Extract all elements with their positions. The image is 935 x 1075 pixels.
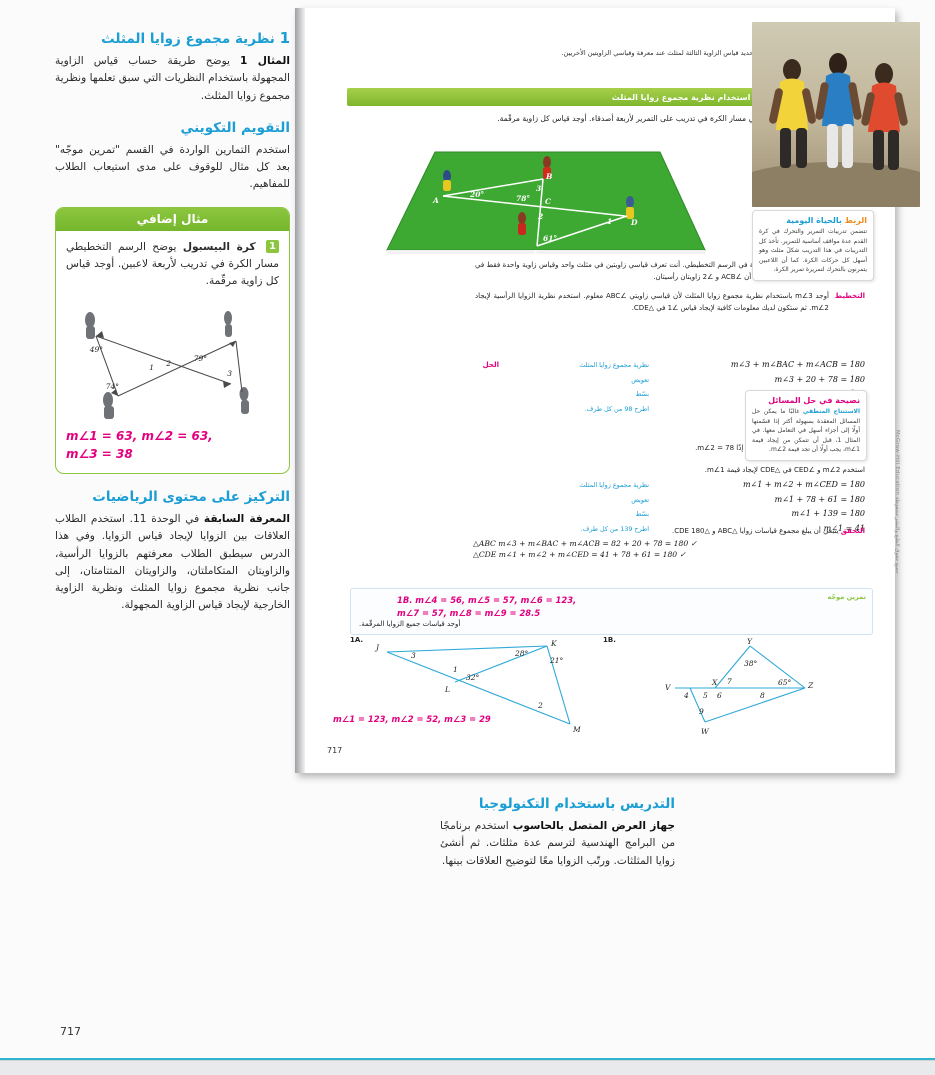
label-1: 1	[607, 217, 612, 226]
focus-lead: المعرفة السابقة	[204, 513, 290, 525]
fig-b-num-7: 7	[727, 677, 732, 686]
solution-row: بسّط m∠1 + 139 = 180	[473, 509, 865, 518]
fig-a-angle-28: 28°	[514, 649, 529, 658]
work-text: أوجد m∠3 باستخدام نظرية مجموع زوايا المث…	[475, 291, 829, 315]
point-C: C	[545, 197, 551, 206]
fig-a-label: 1A.	[350, 636, 363, 644]
label-3: 3	[536, 184, 541, 193]
solution-row: نظرية مجموع زوايا المثلث m∠1 + m∠2 + m∠C…	[473, 480, 865, 489]
tip-body: الاستنتاج المنطقي غالبًا ما يمكن حل المس…	[752, 407, 860, 455]
section-number: 1	[280, 29, 290, 47]
fig-a-point-M: M	[572, 725, 581, 734]
work-tag: التخطيط	[835, 291, 865, 315]
fig-a-num-3: 3	[411, 651, 416, 660]
guided-figures: J K L M 28° 21° 32° 3 1 2	[335, 636, 877, 748]
guided-figures-svg: J K L M 28° 21° 32° 3 1 2	[335, 636, 880, 748]
guided-practice-box: تمرين موجّه 1B. m∠4 = 56, m∠5 = 57, m∠6 …	[350, 588, 873, 635]
solution-equation: m∠1 + 139 = 180	[653, 509, 865, 518]
teacher-left-column: 1 نظرية مجموع زوايا المثلث المثال 1 يوضح…	[55, 28, 290, 628]
real-life-title-a: الربط	[845, 216, 867, 225]
fig-b-num-6: 6	[717, 691, 722, 700]
fig-b-point-X: X	[711, 678, 718, 687]
extra-example-text: 1 كرة البيسبول يوضح الرسم التخطيطي مسار …	[66, 239, 279, 290]
soccer-photo-svg	[752, 22, 920, 207]
fig-b-point-V: V	[665, 683, 672, 692]
scan-folio: 717	[327, 746, 342, 755]
fig-b-num-5: 5	[703, 691, 708, 700]
point-A: A	[432, 196, 439, 205]
guided-practice-tag: تمرين موجّه	[827, 593, 866, 601]
page-root: 1 نظرية مجموع زوايا المثلث المثال 1 يوضح…	[0, 0, 935, 1075]
angle-74: 74°	[106, 382, 120, 391]
bottom-rule	[0, 1060, 935, 1075]
section-heading: 1 نظرية مجموع زوايا المثلث	[55, 28, 290, 48]
focus-body: المعرفة السابقة في الوحدة 11. استخدم الط…	[55, 511, 290, 614]
fig-b-num-9: 9	[699, 707, 704, 716]
copyright-credit: McGraw-Hill Education جميع حقوق الطبع وا…	[894, 430, 900, 630]
guided-practice-answer: 1B. m∠4 = 56, m∠5 = 57, m∠6 = 123, m∠7 =…	[359, 594, 864, 619]
solution-row: تعويض m∠3 + 20 + 78 = 180	[473, 375, 865, 384]
fig-a-num-1: 1	[453, 665, 458, 674]
fig-a-angle-21: 21°	[549, 656, 564, 665]
work-row: التخطيط أوجد m∠3 باستخدام نظرية مجموع زو…	[475, 291, 865, 315]
focus-heading: التركيز على محتوى الرياضيات	[55, 488, 290, 506]
fig-a-num-2: 2	[537, 701, 543, 710]
page-number: 717	[60, 1025, 81, 1038]
focus-text: في الوحدة 11. استخدم الطلاب العلاقات بين…	[55, 513, 290, 611]
fig-b-point-Y: Y	[747, 637, 753, 646]
point-E: E	[532, 249, 539, 258]
baseball-diagram-svg: 49° 79° 74° 1 2 3	[66, 296, 271, 422]
fig-a-angle-32: 32°	[466, 673, 480, 682]
book-spine	[295, 8, 305, 773]
solution-note-2: استخدم m∠2 و ∠CED في △CDE لإيجاد قيمة m∠…	[473, 465, 865, 477]
solution-reason: تعويض	[499, 376, 653, 384]
fig-b-num-4: 4	[683, 691, 689, 700]
angle-78: 78°	[516, 194, 530, 203]
extra-example-header: مثال إضافي	[56, 208, 289, 231]
verify-text: ينبغي أن يبلغ مجموع قياسات زوايا △ABC و …	[672, 527, 839, 535]
fig-b-label: 1B.	[603, 636, 616, 644]
technology-section: التدريس باستخدام التكنولوجيا جهاز العرض …	[440, 795, 675, 870]
teacher-section-theorem: 1 نظرية مجموع زوايا المثلث المثال 1 يوضح…	[55, 28, 290, 105]
technology-body: جهاز العرض المتصل بالحاسوب استخدم برنامج…	[440, 818, 675, 869]
label-2: 2	[537, 212, 543, 221]
solution-row: الحل نظرية مجموع زوايا المثلث m∠3 + m∠BA…	[473, 360, 865, 369]
fig-a-point-K: K	[550, 639, 557, 648]
solution-reason: نظرية مجموع زوايا المثلث	[499, 481, 653, 489]
verify-tag: التحقق	[841, 527, 865, 535]
tip-title: نصيحة في حل المسائل	[752, 396, 860, 405]
solution-row: تعويض m∠1 + 78 + 61 = 180	[473, 495, 865, 504]
guided-practice-prompt: أوجد قياسات جميع الزوايا المرقّمة.	[359, 620, 864, 628]
fig-b-angle-38: 38°	[744, 659, 758, 668]
baseball-diagram: 49° 79° 74° 1 2 3	[66, 296, 279, 422]
problem-solving-tip-card: نصيحة في حل المسائل الاستنتاج المنطقي غا…	[745, 390, 867, 461]
extra-example-number: 1	[266, 240, 279, 253]
point-D: D	[630, 218, 638, 227]
solution-reason: بسّط	[499, 390, 653, 398]
soccer-field-svg: A B C D E 20° 78° 61° 3 2 1	[375, 146, 715, 258]
extra-example-box: مثال إضافي 1 كرة البيسبول يوضح الرسم الت…	[55, 207, 290, 474]
section-title: التقويم التكويني	[180, 120, 290, 136]
example-title: استخدام نظرية مجموع زوايا المثلث	[612, 93, 751, 102]
guided-final-answer: m∠1 = 123, m∠2 = 52, m∠3 = 29	[333, 714, 491, 724]
section-text: استخدم التمارين الواردة في القسم "تمرين …	[55, 142, 290, 193]
verify-line: التحقق ينبغي أن يبلغ مجموع قياسات زوايا …	[473, 525, 865, 537]
point-B: B	[545, 172, 552, 181]
angle-49: 49°	[89, 345, 104, 354]
extra-example-body: 1 كرة البيسبول يوضح الرسم التخطيطي مسار …	[56, 231, 289, 473]
solution-reason: بسّط	[499, 510, 653, 518]
solution-equation: m∠3 + 20 + 78 = 180	[653, 375, 865, 384]
angle-61: 61°	[543, 234, 557, 243]
tip-subtitle: الاستنتاج المنطقي	[803, 408, 860, 415]
verify-row: △CDE m∠1 + m∠2 + m∠CED = 41 + 78 + 61 = …	[473, 550, 865, 559]
angle-79: 79°	[194, 354, 208, 363]
solution-equation: m∠3 + m∠BAC + m∠ACB = 180	[653, 360, 865, 369]
solution-reason: تعويض	[499, 496, 653, 504]
section-title: نظرية مجموع زوايا المثلث	[101, 31, 275, 47]
fig-a-point-J: J	[374, 643, 380, 652]
solution-tag: الحل	[473, 361, 499, 369]
real-life-body: تتضمن تدريبات التمرير والتحرك في كرة الق…	[759, 227, 867, 275]
solution-equation: m∠1 + m∠2 + m∠CED = 180	[653, 480, 865, 489]
fig-b-num-8: 8	[760, 691, 765, 700]
solution-reason: نظرية مجموع زوايا المثلث	[499, 361, 653, 369]
solution-reason: اطرح 98 من كل طرف.	[499, 405, 653, 413]
teacher-section-focus: التركيز على محتوى الرياضيات المعرفة السا…	[55, 488, 290, 614]
angle-20: 20°	[469, 190, 484, 199]
label-3: 3	[227, 369, 232, 378]
section-body: المثال 1 يوضح طريقة حساب قياس الزاوية ال…	[55, 53, 290, 104]
soccer-field-diagram: A B C D E 20° 78° 61° 3 2 1	[375, 146, 715, 258]
verify-row: △ABC m∠3 + m∠BAC + m∠ACB = 82 + 20 + 78 …	[473, 539, 865, 548]
solution-equation: m∠1 + 78 + 61 = 180	[653, 495, 865, 504]
label-1: 1	[149, 363, 154, 372]
fig-b-point-Z: Z	[807, 681, 814, 690]
technology-lead: جهاز العرض المتصل بالحاسوب	[513, 820, 675, 832]
real-life-title-b: بالحياة اليومية	[786, 216, 842, 225]
real-life-card: الربط بالحياة اليومية تتضمن تدريبات التم…	[752, 210, 874, 281]
fig-a-point-L: L	[444, 685, 450, 694]
soccer-photo	[752, 22, 920, 207]
extra-example-lead: كرة البيسبول	[183, 241, 256, 253]
technology-heading: التدريس باستخدام التكنولوجيا	[440, 795, 675, 813]
fig-b-angle-65: 65°	[778, 678, 792, 687]
real-life-title: الربط بالحياة اليومية	[759, 216, 867, 225]
extra-example-answer: m∠1 = 63, m∠2 = 63, m∠3 = 38	[66, 428, 279, 463]
section-lead: المثال 1	[240, 55, 290, 67]
label-2: 2	[165, 359, 171, 368]
fig-b-point-W: W	[701, 727, 710, 736]
verify-block: التحقق ينبغي أن يبلغ مجموع قياسات زوايا …	[473, 525, 865, 559]
section-heading: التقويم التكويني	[55, 119, 290, 137]
teacher-section-formative: التقويم التكويني استخدم التمارين الواردة…	[55, 119, 290, 194]
